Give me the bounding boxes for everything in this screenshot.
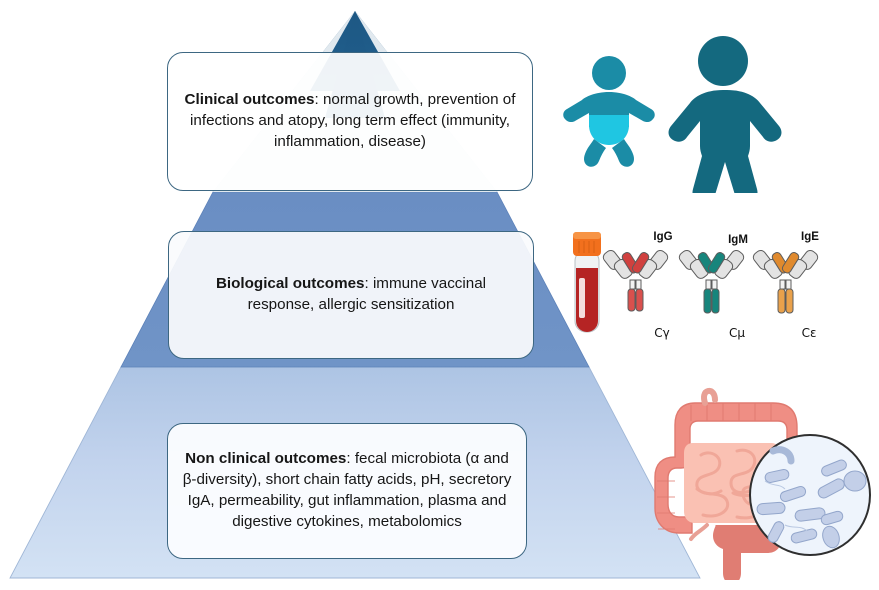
- antibody-ige-icon: [751, 248, 819, 313]
- antibody-igg-icon: [601, 248, 669, 311]
- blood-collection-tube-icon: [573, 232, 601, 332]
- antibody-chain-igg: Cγ: [639, 326, 685, 340]
- tier-card-biological-sep: :: [364, 275, 372, 292]
- bacteria-magnifier-circle: [750, 435, 870, 555]
- tier-card-non-clinical-heading: Non clinical outcomes: [185, 450, 346, 467]
- tier-card-clinical-text: Clinical outcomes: normal growth, preven…: [182, 90, 518, 153]
- tier-card-non-clinical-sep: :: [346, 450, 354, 467]
- antibody-label-igm: IgM: [715, 234, 761, 246]
- baby-icon: [563, 56, 654, 167]
- antibody-igm-icon: [677, 248, 745, 313]
- people-illustration: [563, 33, 813, 193]
- antibody-label-igg: IgG: [640, 231, 686, 243]
- tier-card-non-clinical[interactable]: Non clinical outcomes: fecal microbiota …: [167, 423, 527, 559]
- tier-card-non-clinical-text: Non clinical outcomes: fecal microbiota …: [182, 449, 512, 533]
- antibody-chain-ige: Cε: [786, 326, 832, 340]
- tier-card-biological-heading: Biological outcomes: [216, 275, 365, 292]
- tier-card-clinical[interactable]: Clinical outcomes: normal growth, preven…: [167, 52, 533, 191]
- figure-canvas: Clinical outcomes: normal growth, preven…: [0, 0, 879, 590]
- adult-icon: [669, 36, 782, 193]
- tier-card-clinical-sep: :: [315, 91, 323, 108]
- tier-card-clinical-heading: Clinical outcomes: [185, 91, 315, 108]
- gut-illustration: [645, 385, 875, 580]
- antibody-chain-igm: Cμ: [714, 326, 760, 340]
- tier-card-biological-text: Biological outcomes: immune vaccinal res…: [183, 274, 519, 316]
- tier-card-biological[interactable]: Biological outcomes: immune vaccinal res…: [168, 231, 534, 359]
- antibody-label-ige: IgE: [787, 231, 833, 243]
